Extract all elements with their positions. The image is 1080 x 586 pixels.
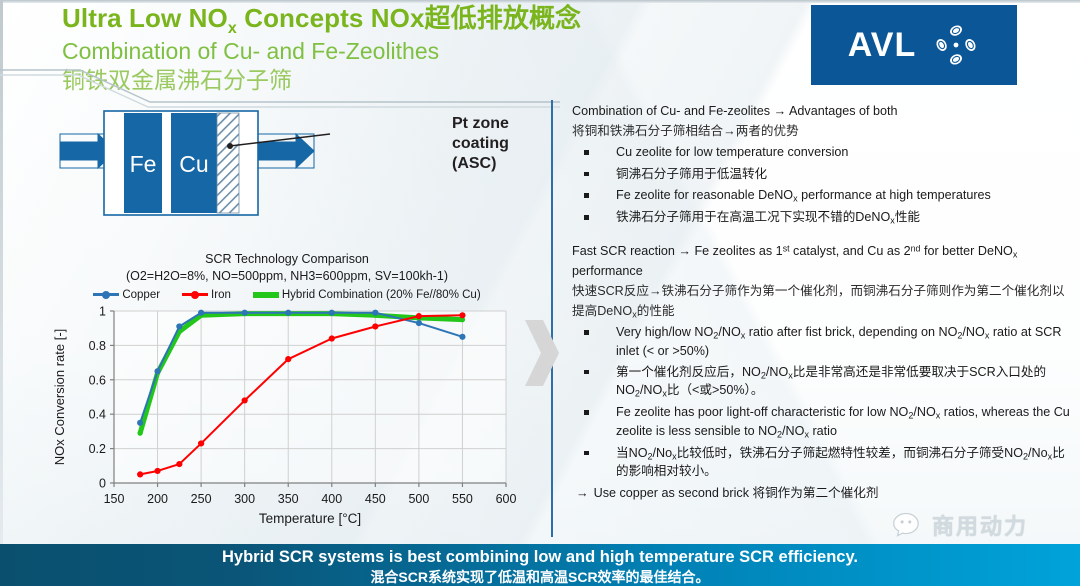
svg-text:Temperature [°C]: Temperature [°C]	[259, 511, 361, 526]
list-item: 铜沸石分子筛用于低温转化	[572, 166, 1072, 184]
legend-label-copper: Copper	[122, 289, 160, 301]
bullet-list-1: Cu zeolite for low temperature conversio…	[572, 144, 1072, 227]
avl-logo: AVL	[812, 6, 1016, 84]
chart-subtitle: (O2=H2O=8%, NO=500ppm, NH3=600ppm, SV=10…	[48, 268, 526, 285]
closing-statement: →Use copper as second brick 将铜作为第二个催化剂	[572, 484, 1072, 503]
legend-item-iron: Iron	[182, 289, 231, 301]
legend-marker-copper	[93, 289, 119, 300]
svg-text:400: 400	[321, 492, 342, 506]
svg-text:600: 600	[496, 492, 517, 506]
svg-text:0.6: 0.6	[89, 373, 106, 387]
avl-logo-text: AVL	[848, 26, 916, 65]
footer-line-en: Hybrid SCR systems is best combining low…	[0, 547, 1080, 568]
svg-text:500: 500	[408, 492, 429, 506]
pt-zone-callout: Pt zone coating (ASC)	[452, 114, 562, 174]
list-item: Fe zeolite has poor light-off characteri…	[572, 404, 1072, 441]
pt-callout-line-3: (ASC)	[452, 154, 562, 174]
chart-legend: Copper Iron Hybrid Combination (20% Fe//…	[48, 289, 526, 301]
svg-text:150: 150	[104, 492, 125, 506]
slide-canvas: Ultra Low NOx Concepts NOx超低排放概念 Combina…	[0, 0, 1080, 586]
title-line-1: Ultra Low NOx Concepts NOx超低排放概念	[62, 4, 762, 38]
svg-text:0: 0	[99, 476, 106, 490]
svg-text:0.8: 0.8	[89, 339, 106, 353]
left-frame-line	[0, 0, 3, 586]
svg-text:350: 350	[278, 492, 299, 506]
chart-plot-area: 00.20.40.60.8115020025030035040045050055…	[48, 303, 526, 528]
title-line-2: Combination of Cu- and Fe-Zeolithes	[62, 38, 762, 66]
svg-text:1: 1	[99, 304, 106, 318]
fe-brick-label: Fe	[130, 151, 157, 177]
title-line-3: 铜铁双金属沸石分子筛	[62, 66, 762, 95]
right-column: Combination of Cu- and Fe-zeolites → Adv…	[572, 102, 1072, 534]
right-heading-en: Combination of Cu- and Fe-zeolites → Adv…	[572, 102, 1072, 121]
pt-zone-hatch	[217, 113, 239, 213]
right-heading-cn: 将铜和铁沸石分子筛相结合→两者的优势	[572, 122, 1072, 142]
legend-label-iron: Iron	[211, 289, 231, 301]
list-item: Fe zeolite for reasonable DeNOx performa…	[572, 187, 1072, 205]
left-column: Fe Cu Pt zone coating (ASC) SCR Technolo…	[48, 96, 526, 536]
list-item: Very high/low NO2/NOx ratio after fist b…	[572, 324, 1072, 360]
chart-title-main: SCR Technology Comparison	[48, 251, 526, 268]
list-item: 当NO2/Nox比较低时，铁沸石分子筛起燃特性较差，而铜沸石分子筛受NO2/No…	[572, 445, 1072, 481]
pt-callout-line-1: Pt zone	[452, 114, 562, 134]
list-item: Cu zeolite for low temperature conversio…	[572, 144, 1072, 162]
footer-banner: Hybrid SCR systems is best combining low…	[0, 544, 1080, 586]
svg-text:450: 450	[365, 492, 386, 506]
arrow-glyph: →	[576, 486, 589, 500]
title-line-1-a: Ultra Low NO	[62, 3, 228, 33]
title-subscript-x: x	[228, 20, 237, 37]
svg-text:0.4: 0.4	[89, 407, 106, 421]
legend-item-hybrid: Hybrid Combination (20% Fe//80% Cu)	[253, 289, 481, 301]
legend-item-copper: Copper	[93, 289, 160, 301]
legend-marker-hybrid	[253, 289, 279, 300]
list-item: 铁沸石分子筛用于在高温工况下实现不错的DeNOx性能	[572, 209, 1072, 227]
svg-text:200: 200	[147, 492, 168, 506]
svg-text:250: 250	[191, 492, 212, 506]
scr-chart: SCR Technology Comparison (O2=H2O=8%, NO…	[48, 251, 526, 536]
cu-brick-label: Cu	[179, 151, 208, 177]
chevron-right-icon	[521, 318, 563, 388]
section-spacer	[572, 231, 1072, 242]
chart-svg: 00.20.40.60.8115020025030035040045050055…	[48, 303, 526, 528]
svg-text:300: 300	[234, 492, 255, 506]
right-heading2-en: Fast SCR reaction → Fe zeolites as 1st c…	[572, 242, 1072, 281]
svg-text:0.2: 0.2	[89, 442, 106, 456]
pt-callout-line-2: coating	[452, 134, 562, 154]
legend-label-hybrid: Hybrid Combination (20% Fe//80% Cu)	[282, 289, 481, 301]
svg-text:550: 550	[452, 492, 473, 506]
footer-line-cn: 混合SCR系统实现了低温和高温SCR效率的最佳结合。	[0, 568, 1080, 586]
page-title: Ultra Low NOx Concepts NOx超低排放概念 Combina…	[62, 4, 762, 94]
legend-marker-iron	[182, 289, 208, 300]
chart-title: SCR Technology Comparison (O2=H2O=8%, NO…	[48, 251, 526, 285]
avl-pinwheel-icon	[932, 21, 980, 69]
svg-text:NOx Conversion rate [-]: NOx Conversion rate [-]	[52, 328, 67, 465]
closing-text: Use copper as second brick 将铜作为第二个催化剂	[594, 486, 879, 500]
list-item: 第一个催化剂反应后，NO2/NOx比是非常高还是非常低要取决于SCR入口处的NO…	[572, 364, 1072, 401]
bullet-list-2: Very high/low NO2/NOx ratio after fist b…	[572, 324, 1072, 481]
right-heading2-cn: 快速SCR反应→铁沸石分子筛作为第一个催化剂，而铜沸石分子筛则作为第二个催化剂以…	[572, 282, 1072, 321]
title-line-1-b: Concepts NOx超低排放概念	[237, 3, 581, 33]
catalyst-diagram: Fe Cu	[58, 106, 438, 224]
